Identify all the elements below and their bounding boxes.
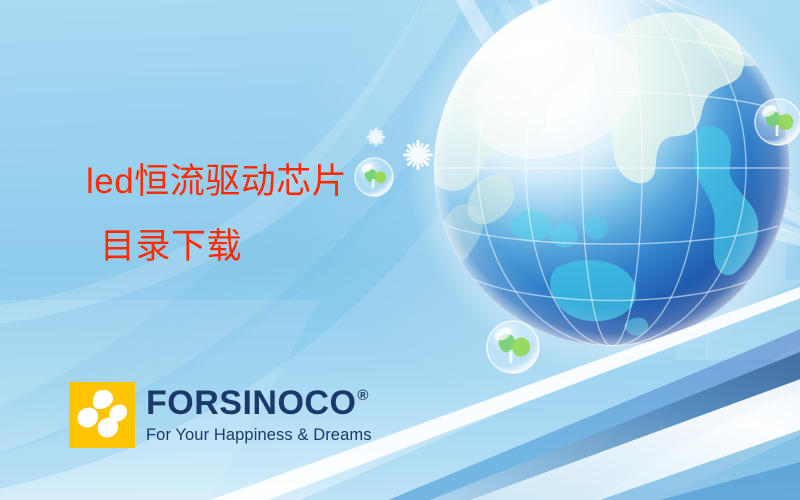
glass-bubble xyxy=(755,99,800,145)
logo-tagline: For Your Happiness & Dreams xyxy=(146,427,372,444)
city-skyline-silhouette xyxy=(676,200,800,360)
headline-line-2: 目录下载 xyxy=(100,229,506,264)
sparkle-star xyxy=(367,128,386,147)
company-logo: FORSINOCO ® For Your Happiness & Dreams xyxy=(69,382,372,448)
globe-orbit-arcs xyxy=(455,0,800,266)
logo-wordmark: FORSINOCO ® xyxy=(146,386,372,420)
glass-bubble xyxy=(487,321,539,373)
logo-text-block: FORSINOCO ® For Your Happiness & Dreams xyxy=(146,386,372,444)
registered-trademark-icon: ® xyxy=(357,388,369,403)
marketing-banner: led恒流驱动芯片 目录下载 FORSINOCO ® For Your Happ… xyxy=(0,0,800,500)
headline-block: led恒流驱动芯片 目录下载 xyxy=(86,164,506,264)
forsinoco-pinwheel-icon xyxy=(69,382,135,448)
logo-wordmark-text: FORSINOCO xyxy=(146,386,356,420)
diagonal-ribbon-group xyxy=(0,248,800,500)
headline-line-1: led恒流驱动芯片 xyxy=(86,164,506,199)
